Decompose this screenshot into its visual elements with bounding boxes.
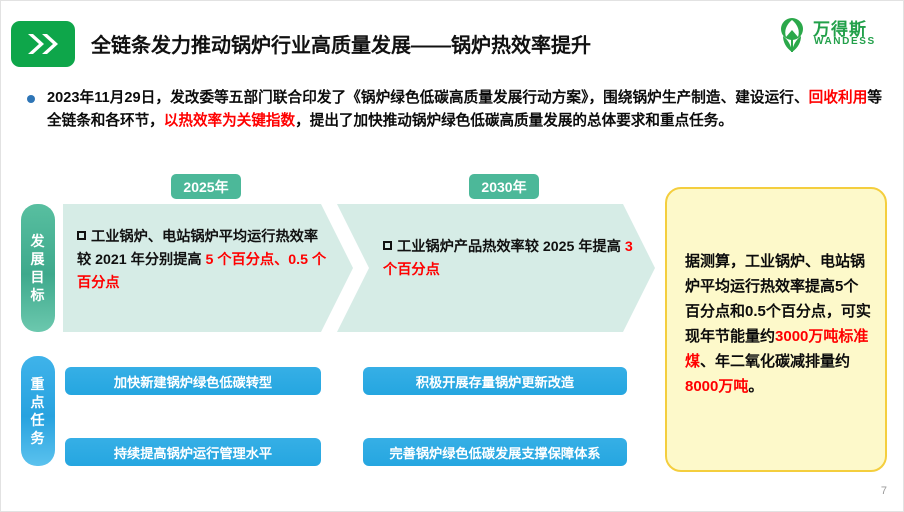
wandess-plant-logo-icon bbox=[775, 17, 809, 53]
highlighted-text: 回收利用 bbox=[809, 90, 868, 106]
goal-chevron-band-2025: 工业锅炉、电站锅炉平均运行热效率较 2021 年分别提高 5 个百分点、0.5 … bbox=[63, 204, 353, 332]
slide-header: 全链条发力推动锅炉行业高质量发展——锅炉热效率提升 万得斯 WANDESS bbox=[1, 1, 904, 75]
vlabel-char: 发 bbox=[31, 232, 46, 250]
goal-item-text: 工业锅炉产品热效率较 2025 年提高 3 个百分点 bbox=[383, 236, 633, 282]
body-text: 2023年11月29日，发改委等五部门联合印发了《锅炉绿色低碳高质量发展行动方案… bbox=[47, 90, 809, 106]
section-label-key-tasks: 重 点 任 务 bbox=[21, 356, 55, 466]
intro-paragraph-text: 2023年11月29日，发改委等五部门联合印发了《锅炉绿色低碳高质量发展行动方案… bbox=[47, 87, 882, 133]
body-text: 、年二氧化碳减排量约 bbox=[700, 353, 850, 370]
estimate-callout-box: 据测算，工业锅炉、电站锅炉平均运行热效率提高5个百分点和0.5个百分点，可实现年… bbox=[665, 187, 887, 472]
logo-name-en: WANDESS bbox=[814, 36, 876, 47]
vlabel-char: 重 bbox=[31, 375, 46, 393]
body-text: 。 bbox=[748, 378, 763, 395]
vlabel-char: 任 bbox=[31, 411, 46, 429]
goal-item-text: 工业锅炉、电站锅炉平均运行热效率较 2021 年分别提高 5 个百分点、0.5 … bbox=[77, 226, 329, 295]
bullet-dot-icon bbox=[27, 95, 35, 103]
highlighted-text: 8000万吨 bbox=[685, 378, 748, 395]
vlabel-char: 目 bbox=[31, 268, 46, 286]
task-pill-support-system[interactable]: 完善锅炉绿色低碳发展支撑保障体系 bbox=[363, 438, 627, 466]
vlabel-char: 标 bbox=[31, 286, 46, 304]
task-pill-operation-management[interactable]: 持续提高锅炉运行管理水平 bbox=[65, 438, 321, 466]
estimate-callout-text: 据测算，工业锅炉、电站锅炉平均运行热效率提高5个百分点和0.5个百分点，可实现年… bbox=[685, 249, 873, 399]
task-pill-new-boiler-transition[interactable]: 加快新建锅炉绿色低碳转型 bbox=[65, 367, 321, 395]
slide-canvas: 全链条发力推动锅炉行业高质量发展——锅炉热效率提升 万得斯 WANDESS 20… bbox=[0, 0, 904, 512]
task-pill-stock-boiler-upgrade[interactable]: 积极开展存量锅炉更新改造 bbox=[363, 367, 627, 395]
brand-logo: 万得斯 WANDESS bbox=[775, 15, 895, 59]
highlighted-text: 以热效率为关键指数 bbox=[164, 113, 295, 129]
vlabel-char: 务 bbox=[31, 429, 46, 447]
page-number: 7 bbox=[881, 485, 887, 497]
body-text: ，提出了加快推动锅炉绿色低碳高质量发展的总体要求和重点任务。 bbox=[295, 113, 733, 129]
goal-chevron-band-2030: 工业锅炉产品热效率较 2025 年提高 3 个百分点 bbox=[337, 204, 655, 332]
double-chevron-right-icon bbox=[11, 21, 75, 67]
page-title: 全链条发力推动锅炉行业高质量发展——锅炉热效率提升 bbox=[91, 29, 591, 58]
year-badge-2030: 2030年 bbox=[469, 174, 539, 199]
intro-paragraph: 2023年11月29日，发改委等五部门联合印发了《锅炉绿色低碳高质量发展行动方案… bbox=[27, 87, 882, 133]
body-text: 工业锅炉产品热效率较 2025 年提高 bbox=[397, 239, 625, 255]
square-bullet-icon bbox=[383, 241, 392, 250]
vlabel-char: 点 bbox=[31, 393, 46, 411]
year-badge-2025: 2025年 bbox=[171, 174, 241, 199]
vlabel-char: 展 bbox=[31, 250, 46, 268]
square-bullet-icon bbox=[77, 231, 86, 240]
section-label-development-goals: 发 展 目 标 bbox=[21, 204, 55, 332]
